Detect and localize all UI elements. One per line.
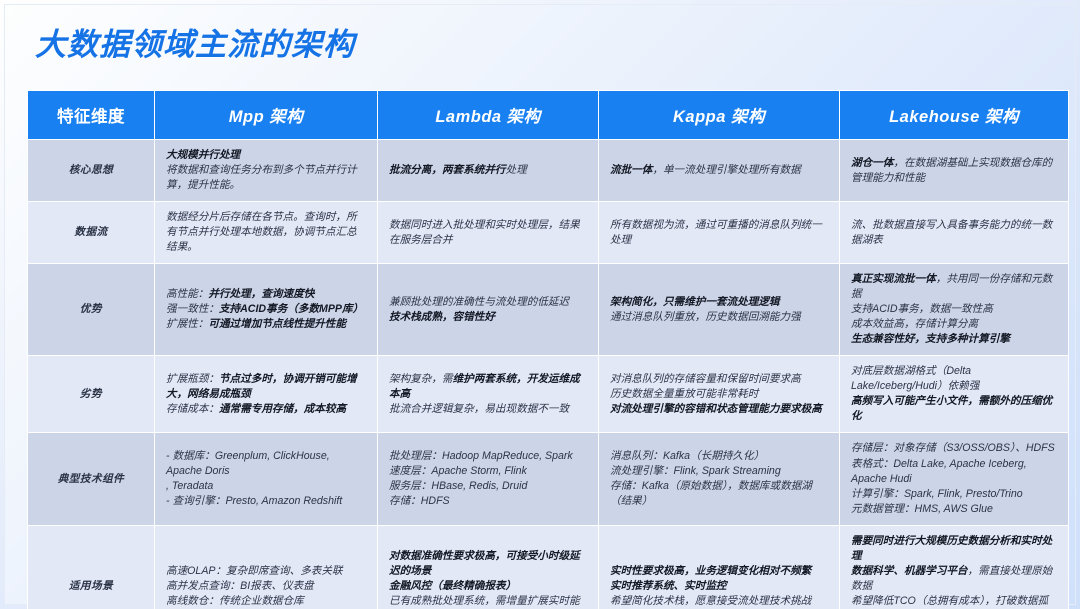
cell-text-segment: 表格式：Delta Lake, Apache Iceberg, Apache H… [851, 458, 1027, 485]
cell-text-line: 批处理层：Hadoop MapReduce, Spark [389, 449, 587, 464]
cell-text-line: 数据经分片后存储在各节点。查询时，所有节点并行处理本地数据，协调节点汇总结果。 [166, 210, 366, 255]
cell-text-line: 成本效益高，存储计算分离 [851, 317, 1057, 332]
table-body: 核心思想大规模并行处理将数据和查询任务分布到多个节点并行计算，提升性能。批流分离… [28, 140, 1068, 609]
cell-text-line: 速度层：Apache Storm, Flink [389, 464, 587, 479]
cell-text-line: 流、批数据直接写入具备事务能力的统一数据湖表 [851, 218, 1057, 248]
cell-text-line: 流批一体，单一流处理引擎处理所有数据 [610, 163, 828, 178]
table-cell: 实时性要求极高，业务逻辑变化相对不频繁实时推荐系统、实时监控希望简化技术栈，愿意… [599, 526, 839, 609]
cell-text-line: 希望简化技术栈，愿意接受流处理技术挑战 [610, 594, 828, 609]
cell-text-segment: 历史数据全量重放可能非常耗时 [610, 388, 758, 400]
cell-text-line: 批流分离，两套系统并行处理 [389, 163, 587, 178]
cell-text-segment: 对数据准确性要求极高，可接受小时级延迟的场景 [389, 550, 580, 577]
table-cell: 真正实现流批一体，共用同一份存储和元数据支持ACID事务，数据一致性高成本效益高… [840, 264, 1068, 355]
table-cell: 批处理层：Hadoop MapReduce, Spark速度层：Apache S… [378, 433, 598, 524]
table-cell: 大规模并行处理将数据和查询任务分布到多个节点并行计算，提升性能。 [155, 140, 377, 201]
row-label-5: 典型技术组件 [28, 433, 154, 524]
cell-text-line: 希望降低TCO（总拥有成本），打破数据孤岛 [851, 594, 1057, 609]
cell-text-segment: 批流合并逻辑复杂，易出现数据不一致 [389, 403, 569, 415]
cell-text-line: 服务层：HBase, Redis, Druid [389, 479, 587, 494]
table-row: 典型技术组件- 数据库：Greenplum, ClickHouse, Apach… [28, 433, 1068, 524]
cell-text-segment: 数据同时进入批处理和实时处理层，结果在服务层合并 [389, 219, 580, 246]
cell-text-line: 大规模并行处理 [166, 148, 366, 163]
table-header-row: 特征维度 Mpp 架构 Lambda 架构 Kappa 架构 Lakehouse… [28, 91, 1068, 139]
table-cell: 对数据准确性要求极高，可接受小时级延迟的场景金融风控（最终精确报表）已有成熟批处… [378, 526, 598, 609]
table-cell: 架构复杂，需维护两套系统，开发运维成本高批流合并逻辑复杂，易出现数据不一致 [378, 356, 598, 432]
cell-text-segment: ，单一流处理引擎处理所有数据 [652, 164, 800, 176]
cell-text-line: 强一致性：支持ACID事务（多数MPP库） [166, 302, 366, 317]
cell-text-segment: 消息队列：Kafka（长期持久化） [610, 450, 764, 462]
cell-text-emphasis: 并行处理，查询速度快 [208, 288, 314, 300]
cell-text-segment: 批处理层：Hadoop MapReduce, Spark [389, 450, 573, 462]
cell-text-emphasis: 通常需专用存储，成本较高 [219, 403, 346, 415]
table-row: 优势高性能：并行处理，查询速度快强一致性：支持ACID事务（多数MPP库）扩展性… [28, 264, 1068, 355]
table-cell: 架构简化，只需维护一套流处理逻辑通过消息队列重放，历史数据回溯能力强 [599, 264, 839, 355]
cell-text-segment: 离线数仓：传统企业数据仓库 [166, 595, 304, 607]
cell-text-line: 技术栈成熟，容错性好 [389, 310, 587, 325]
cell-text-segment: 所有数据视为流，通过可重播的消息队列统一处理 [610, 219, 822, 246]
column-header-dimension: 特征维度 [28, 91, 154, 139]
cell-text-line: 高性能：并行处理，查询速度快 [166, 287, 366, 302]
cell-text-line: 支持ACID事务，数据一致性高 [851, 302, 1057, 317]
cell-text-segment: - 数据库：Greenplum, ClickHouse, Apache Dori… [166, 450, 330, 477]
cell-text-segment: , Teradata [166, 480, 213, 492]
cell-text-segment: 存储成本： [166, 403, 219, 415]
cell-text-segment: 对消息队列的存储容量和保留时间要求高 [610, 373, 801, 385]
cell-text-segment: 高频写入可能产生小文件，需额外的压缩优化 [851, 395, 1052, 422]
table-row: 适用场景高速OLAP：复杂即席查询、多表关联高并发点查询：BI报表、仪表盘离线数… [28, 526, 1068, 609]
cell-text-segment: 流处理引擎：Flink, Spark Streaming [610, 465, 781, 477]
cell-text-line: 兼顾批处理的准确性与流处理的低延迟 [389, 295, 587, 310]
cell-text-segment: 处理 [506, 164, 527, 176]
cell-text-line: 扩展瓶颈：节点过多时，协调开销可能增大，网络易成瓶颈 [166, 372, 366, 402]
cell-text-segment: 扩展性： [166, 318, 208, 330]
cell-text-segment: 对底层数据湖格式（Delta Lake/Iceberg/Hudi）依赖强 [851, 365, 979, 392]
cell-text-line: 生态兼容性好，支持多种计算引擎 [851, 332, 1057, 347]
architecture-comparison-table-wrapper: 特征维度 Mpp 架构 Lambda 架构 Kappa 架构 Lakehouse… [27, 90, 1063, 609]
cell-text-segment: 希望降低TCO（总拥有成本），打破数据孤岛 [851, 595, 1048, 609]
cell-text-segment: 湖仓一体 [851, 157, 893, 169]
cell-text-segment: 存储：Kafka（原始数据），数据库或数据湖（结果） [610, 480, 812, 507]
cell-text-segment: 存储：HDFS [389, 495, 450, 507]
cell-text-line: 扩展性：可通过增加节点线性提升性能 [166, 317, 366, 332]
cell-text-line: 离线数仓：传统企业数据仓库 [166, 594, 366, 609]
cell-text-line: 架构复杂，需维护两套系统，开发运维成本高 [389, 372, 587, 402]
column-header-lakehouse: Lakehouse 架构 [840, 91, 1068, 139]
cell-text-line: 高并发点查询：BI报表、仪表盘 [166, 579, 366, 594]
cell-text-line: 高频写入可能产生小文件，需额外的压缩优化 [851, 394, 1057, 424]
table-cell: 扩展瓶颈：节点过多时，协调开销可能增大，网络易成瓶颈存储成本：通常需专用存储，成… [155, 356, 377, 432]
table-cell: 高速OLAP：复杂即席查询、多表关联高并发点查询：BI报表、仪表盘离线数仓：传统… [155, 526, 377, 609]
cell-text-segment: 数据经分片后存储在各节点。查询时，所有节点并行处理本地数据，协调节点汇总结果。 [166, 211, 357, 253]
cell-text-line: 实时性要求极高，业务逻辑变化相对不频繁 [610, 564, 828, 579]
cell-text-segment: 技术栈成熟，容错性好 [389, 311, 495, 323]
cell-text-line: 所有数据视为流，通过可重播的消息队列统一处理 [610, 218, 828, 248]
cell-text-segment: 大规模并行处理 [166, 149, 240, 161]
table-cell: 数据经分片后存储在各节点。查询时，所有节点并行处理本地数据，协调节点汇总结果。 [155, 202, 377, 263]
cell-text-segment: 真正实现流批一体 [851, 273, 936, 285]
cell-text-line: 数据同时进入批处理和实时处理层，结果在服务层合并 [389, 218, 587, 248]
table-cell: 需要同时进行大规模历史数据分析和实时处理数据科学、机器学习平台，需直接处理原始数… [840, 526, 1068, 609]
table-cell: 所有数据视为流，通过可重播的消息队列统一处理 [599, 202, 839, 263]
table-cell: 兼顾批处理的准确性与流处理的低延迟技术栈成熟，容错性好 [378, 264, 598, 355]
cell-text-line: 存储：Kafka（原始数据），数据库或数据湖（结果） [610, 479, 828, 509]
cell-text-line: - 查询引擎：Presto, Amazon Redshift [166, 494, 366, 509]
cell-text-line: 存储成本：通常需专用存储，成本较高 [166, 402, 366, 417]
cell-text-segment: 金融风控（最终精确报表） [389, 580, 516, 592]
table-header: 特征维度 Mpp 架构 Lambda 架构 Kappa 架构 Lakehouse… [28, 91, 1068, 139]
cell-text-line: 将数据和查询任务分布到多个节点并行计算，提升性能。 [166, 163, 366, 193]
cell-text-emphasis: 支持ACID事务（多数MPP库） [219, 303, 363, 315]
cell-text-segment: 高性能： [166, 288, 208, 300]
cell-text-line: 已有成熟批处理系统，需增量扩展实时能力 [389, 594, 587, 609]
table-cell: 对消息队列的存储容量和保留时间要求高历史数据全量重放可能非常耗时对流处理引擎的容… [599, 356, 839, 432]
cell-text-line: - 数据库：Greenplum, ClickHouse, Apache Dori… [166, 449, 366, 479]
cell-text-segment: 架构简化，只需维护一套流处理逻辑 [610, 296, 780, 308]
table-cell: 湖仓一体，在数据湖基础上实现数据仓库的管理能力和性能 [840, 140, 1068, 201]
cell-text-segment: 实时性要求极高，业务逻辑变化相对不频繁 [610, 565, 811, 577]
cell-text-segment: 强一致性： [166, 303, 219, 315]
slide-frame: 大数据领域主流的架构 特征维度 Mpp 架构 Lambda 架构 Kappa 架… [4, 4, 1076, 605]
cell-text-line: 数据科学、机器学习平台，需直接处理原始数据 [851, 564, 1057, 594]
cell-text-line: 历史数据全量重放可能非常耗时 [610, 387, 828, 402]
cell-text-segment: 需要同时进行大规模历史数据分析和实时处理 [851, 535, 1052, 562]
row-label-4: 劣势 [28, 356, 154, 432]
cell-text-segment: 流、批数据直接写入具备事务能力的统一数据湖表 [851, 219, 1052, 246]
cell-text-segment: 数据科学、机器学习平台 [851, 565, 968, 577]
cell-text-segment: 高速OLAP：复杂即席查询、多表关联 [166, 565, 343, 577]
cell-text-segment: 支持ACID事务，数据一致性高 [851, 303, 993, 315]
cell-text-line: 批流合并逻辑复杂，易出现数据不一致 [389, 402, 587, 417]
cell-text-line: 流处理引擎：Flink, Spark Streaming [610, 464, 828, 479]
cell-text-segment: 生态兼容性好，支持多种计算引擎 [851, 333, 1010, 345]
architecture-comparison-table: 特征维度 Mpp 架构 Lambda 架构 Kappa 架构 Lakehouse… [27, 90, 1069, 609]
cell-text-segment: 流批一体 [610, 164, 652, 176]
column-header-kappa: Kappa 架构 [599, 91, 839, 139]
cell-text-segment: 高并发点查询：BI报表、仪表盘 [166, 580, 314, 592]
cell-text-segment: 架构复杂，需 [389, 373, 453, 385]
cell-text-line: 对数据准确性要求极高，可接受小时级延迟的场景 [389, 549, 587, 579]
cell-text-line: 对流处理引擎的容错和状态管理能力要求极高 [610, 402, 828, 417]
cell-text-segment: 速度层：Apache Storm, Flink [389, 465, 527, 477]
cell-text-segment: 通过消息队列重放，历史数据回溯能力强 [610, 311, 801, 323]
page-title: 大数据领域主流的架构 [35, 19, 355, 64]
cell-text-line: 架构简化，只需维护一套流处理逻辑 [610, 295, 828, 310]
cell-text-line: 通过消息队列重放，历史数据回溯能力强 [610, 310, 828, 325]
cell-text-segment: 存储层：对象存储（S3/OSS/OBS）、HDFS [851, 442, 1055, 454]
cell-text-line: , Teradata [166, 479, 366, 494]
cell-text-segment: 兼顾批处理的准确性与流处理的低延迟 [389, 296, 569, 308]
table-cell: 批流分离，两套系统并行处理 [378, 140, 598, 201]
table-row: 数据流数据经分片后存储在各节点。查询时，所有节点并行处理本地数据，协调节点汇总结… [28, 202, 1068, 263]
cell-text-segment: 已有成熟批处理系统，需增量扩展实时能力 [389, 595, 580, 609]
cell-text-segment: 批流分离，两套系统并行 [389, 164, 506, 176]
cell-text-line: 湖仓一体，在数据湖基础上实现数据仓库的管理能力和性能 [851, 156, 1057, 186]
cell-text-line: 存储：HDFS [389, 494, 587, 509]
table-cell: 消息队列：Kafka（长期持久化）流处理引擎：Flink, Spark Stre… [599, 433, 839, 524]
table-row: 劣势扩展瓶颈：节点过多时，协调开销可能增大，网络易成瓶颈存储成本：通常需专用存储… [28, 356, 1068, 432]
cell-text-segment: 实时推荐系统、实时监控 [610, 580, 727, 592]
cell-text-line: 实时推荐系统、实时监控 [610, 579, 828, 594]
cell-text-segment: 将数据和查询任务分布到多个节点并行计算，提升性能。 [166, 164, 357, 191]
cell-text-segment: 服务层：HBase, Redis, Druid [389, 480, 527, 492]
cell-text-line: 高速OLAP：复杂即席查询、多表关联 [166, 564, 366, 579]
cell-text-line: 存储层：对象存储（S3/OSS/OBS）、HDFS [851, 441, 1057, 456]
cell-text-line: 表格式：Delta Lake, Apache Iceberg, Apache H… [851, 457, 1057, 487]
cell-text-segment: 扩展瓶颈： [166, 373, 219, 385]
table-cell: 高性能：并行处理，查询速度快强一致性：支持ACID事务（多数MPP库）扩展性：可… [155, 264, 377, 355]
cell-text-line: 对底层数据湖格式（Delta Lake/Iceberg/Hudi）依赖强 [851, 364, 1057, 394]
table-cell: 对底层数据湖格式（Delta Lake/Iceberg/Hudi）依赖强高频写入… [840, 356, 1068, 432]
column-header-lambda: Lambda 架构 [378, 91, 598, 139]
cell-text-line: 消息队列：Kafka（长期持久化） [610, 449, 828, 464]
row-label-3: 优势 [28, 264, 154, 355]
cell-text-segment: - 查询引擎：Presto, Amazon Redshift [166, 495, 342, 507]
cell-text-segment: 对流处理引擎的容错和状态管理能力要求极高 [610, 403, 822, 415]
row-label-1: 核心思想 [28, 140, 154, 201]
table-row: 核心思想大规模并行处理将数据和查询任务分布到多个节点并行计算，提升性能。批流分离… [28, 140, 1068, 201]
cell-text-line: 需要同时进行大规模历史数据分析和实时处理 [851, 534, 1057, 564]
table-cell: 数据同时进入批处理和实时处理层，结果在服务层合并 [378, 202, 598, 263]
table-cell: 流批一体，单一流处理引擎处理所有数据 [599, 140, 839, 201]
cell-text-line: 对消息队列的存储容量和保留时间要求高 [610, 372, 828, 387]
cell-text-line: 真正实现流批一体，共用同一份存储和元数据 [851, 272, 1057, 302]
cell-text-emphasis: 可通过增加节点线性提升性能 [208, 318, 346, 330]
cell-text-segment: 希望简化技术栈，愿意接受流处理技术挑战 [610, 595, 811, 607]
cell-text-segment: 元数据管理：HMS, AWS Glue [851, 503, 993, 515]
table-cell: 存储层：对象存储（S3/OSS/OBS）、HDFS表格式：Delta Lake,… [840, 433, 1068, 524]
cell-text-line: 计算引擎：Spark, Flink, Presto/Trino [851, 487, 1057, 502]
row-label-6: 适用场景 [28, 526, 154, 609]
column-header-mpp: Mpp 架构 [155, 91, 377, 139]
cell-text-line: 金融风控（最终精确报表） [389, 579, 587, 594]
row-label-2: 数据流 [28, 202, 154, 263]
table-cell: 流、批数据直接写入具备事务能力的统一数据湖表 [840, 202, 1068, 263]
cell-text-line: 元数据管理：HMS, AWS Glue [851, 502, 1057, 517]
table-cell: - 数据库：Greenplum, ClickHouse, Apache Dori… [155, 433, 377, 524]
cell-text-segment: 计算引擎：Spark, Flink, Presto/Trino [851, 488, 1023, 500]
cell-text-segment: 成本效益高，存储计算分离 [851, 318, 978, 330]
